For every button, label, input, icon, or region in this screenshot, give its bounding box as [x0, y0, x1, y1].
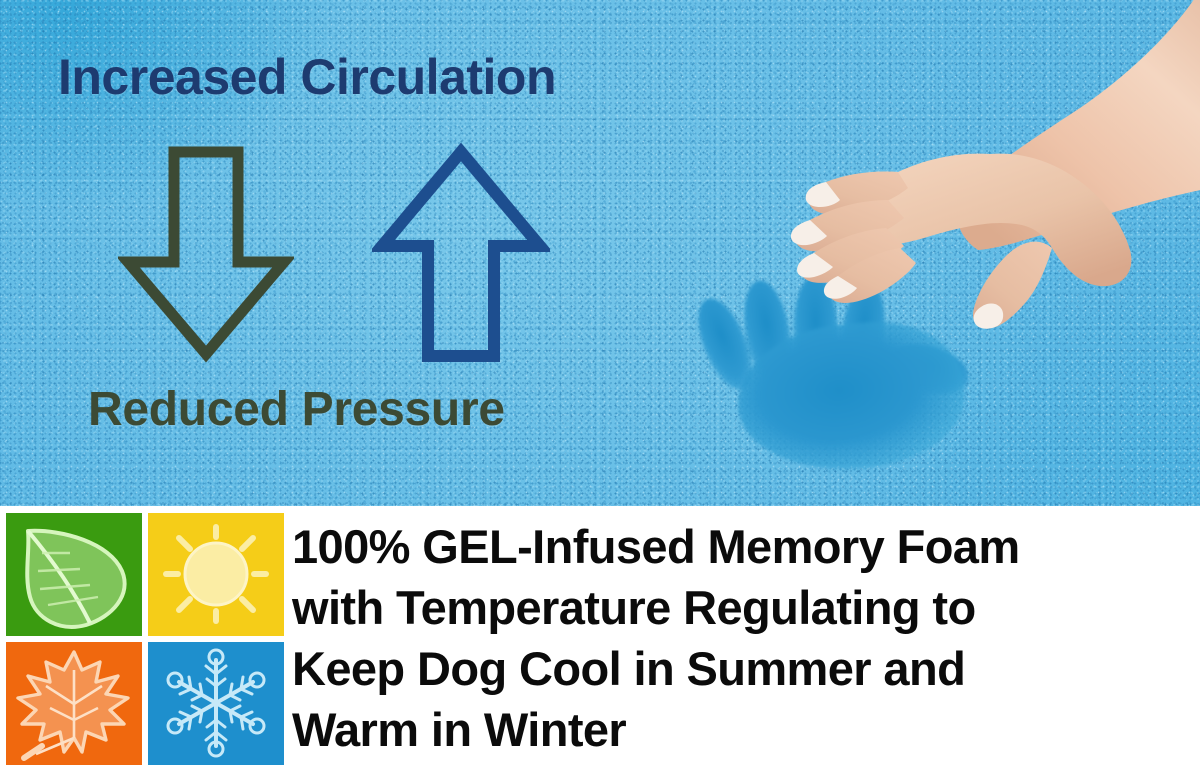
headline-line-1: 100% GEL-Infused Memory Foam: [292, 516, 1190, 577]
product-feature-infographic: Increased Circulation Reduced Pressure: [0, 0, 1200, 773]
winter-snowflake-tile: [148, 642, 284, 765]
spring-leaf-tile: [6, 513, 142, 636]
reduced-pressure-label: Reduced Pressure: [88, 382, 505, 437]
headline-line-2: with Temperature Regulating to: [292, 577, 1190, 638]
memory-foam-photo: Increased Circulation Reduced Pressure: [0, 0, 1200, 506]
feature-headline: 100% GEL-Infused Memory Foam with Temper…: [292, 516, 1190, 760]
headline-line-4: Warm in Winter: [292, 699, 1190, 760]
four-seasons-icon-grid: [6, 513, 284, 767]
increased-circulation-label: Increased Circulation: [58, 48, 556, 106]
autumn-maple-leaf-tile: [6, 642, 142, 765]
spring-leaf-icon: [6, 513, 142, 636]
up-arrow-icon: [372, 142, 550, 366]
autumn-maple-leaf-icon: [6, 642, 142, 765]
feature-bar: 100% GEL-Infused Memory Foam with Temper…: [0, 506, 1200, 773]
winter-snowflake-icon: [148, 642, 284, 765]
down-arrow-icon: [118, 142, 294, 364]
summer-sun-tile: [148, 513, 284, 636]
headline-line-3: Keep Dog Cool in Summer and: [292, 638, 1190, 699]
summer-sun-icon: [148, 513, 284, 636]
hand-photo: [660, 0, 1200, 356]
